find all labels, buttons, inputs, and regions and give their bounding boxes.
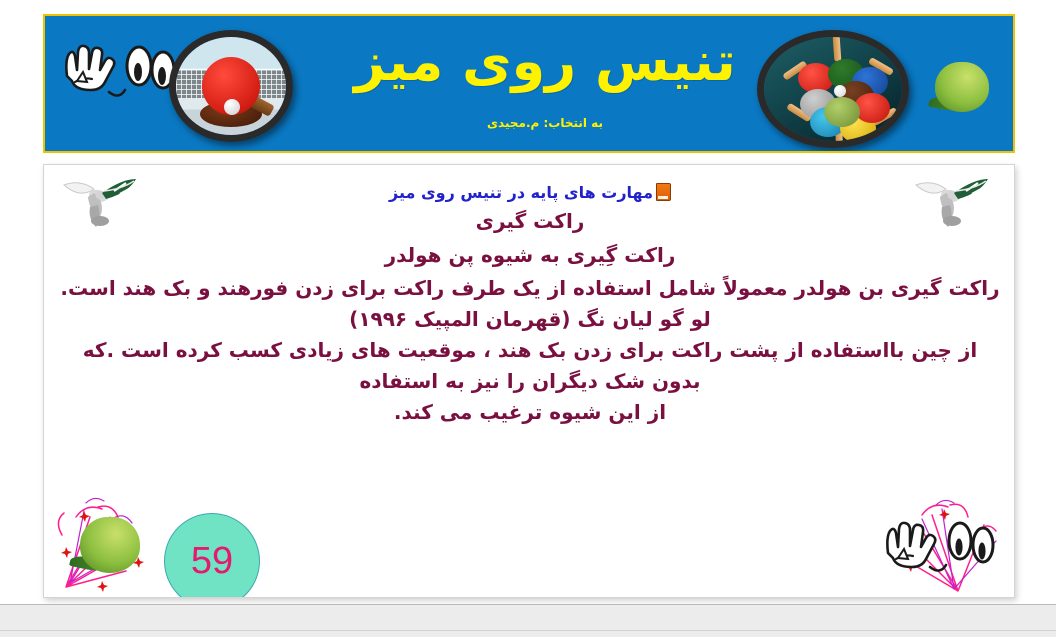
content-caption: لو گو لیان نگ (قهرمان المپیک ۱۹۹۶) <box>44 304 1015 335</box>
page-number-badge: 59 <box>164 513 260 598</box>
table-tennis-net-photo <box>169 30 293 142</box>
content-subheading: راکت گیری <box>44 205 1015 237</box>
green-apple-icon <box>929 62 991 120</box>
banner-subtitle: به انتخاب: م.مجیدی <box>345 116 745 130</box>
page-title: تنیس روی میز <box>345 28 745 96</box>
content-paragraph-1: راکت گیری بن هولدر معمولاً شامل استفاده … <box>44 273 1015 304</box>
page-number-label: 59 <box>191 542 233 580</box>
content-subheading-2: راکت گِیری به شیوه پن هولدر <box>44 237 1015 273</box>
book-icon <box>656 183 671 201</box>
viewer-divider <box>0 630 1056 631</box>
content-paragraph-3: از این شیوه ترغیب می کند. <box>44 397 1015 428</box>
colored-paddles-photo <box>757 30 909 148</box>
content-heading: مهارت های پایه در تنیس روی میز <box>44 181 1015 205</box>
green-apple-bottom-icon <box>70 517 146 583</box>
header-banner: تنیس روی میز به انتخاب: م.مجیدی <box>43 14 1015 153</box>
slide-sheet: تنیس روی میز به انتخاب: م.مجیدی <box>43 14 1015 598</box>
slide-text-block: مهارت های پایه در تنیس روی میز راکت گیری… <box>44 181 1015 428</box>
slide-viewer: تنیس روی میز به انتخاب: م.مجیدی <box>0 0 1056 637</box>
content-panel: مهارت های پایه در تنیس روی میز راکت گیری… <box>43 164 1015 598</box>
cartoon-glove-eyes-bottom-icon <box>878 513 1000 583</box>
content-paragraph-2: از چین بااستفاده از پشت راکت برای زدن بک… <box>44 335 1015 397</box>
viewer-bottom-bar[interactable] <box>0 604 1056 637</box>
content-heading-label: مهارت های پایه در تنیس روی میز <box>389 183 653 202</box>
cartoon-glove-eyes-icon <box>53 36 183 108</box>
